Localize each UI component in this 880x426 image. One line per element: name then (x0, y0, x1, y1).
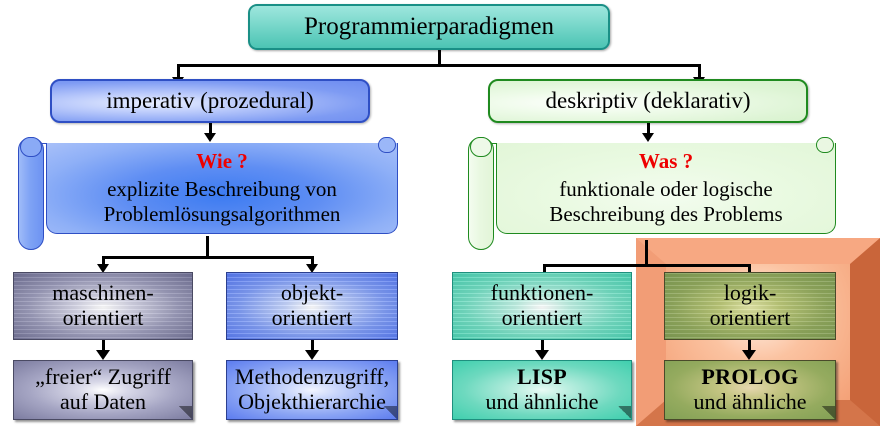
machine-label-line-1: maschinen- (52, 281, 153, 306)
node-function-oriented[interactable]: funktionen- orientiert (452, 272, 632, 340)
node-object-oriented[interactable]: objekt- orientiert (226, 272, 398, 340)
function-label-line-1: funktionen- (491, 281, 594, 306)
scroll-right-curl (378, 137, 396, 153)
arrow-logic-to-detail (742, 350, 756, 360)
scroll-descriptive-description[interactable]: Was ? funktionale oder logische Beschrei… (458, 135, 836, 250)
scroll-imperative-description[interactable]: Wie ? explizite Beschreibung von Problem… (8, 135, 398, 250)
connector-title-bar (177, 64, 701, 67)
scroll-left-roll-cap (20, 137, 42, 157)
node-descriptive-label: deskriptiv (deklarativ) (545, 88, 750, 114)
question-was: Was ? (639, 149, 693, 174)
scroll-imperative-body: Wie ? explizite Beschreibung von Problem… (46, 143, 398, 234)
scroll-right-curl (816, 137, 834, 153)
object-label-line-1: objekt- (281, 281, 343, 306)
node-machine-detail[interactable]: „freier“ Zugriff auf Daten (13, 360, 193, 420)
logic-detail-line-2: und ähnliche (693, 390, 806, 415)
connector-descriptive-split-bar (543, 264, 751, 267)
imperative-desc-line-1: explizite Beschreibung von (107, 177, 337, 202)
descriptive-desc-line-1: funktionale oder logische (559, 177, 772, 202)
imperative-desc-line-2: Problemlösungsalgorithmen (104, 202, 341, 227)
function-detail-line-2: und ähnliche (485, 390, 598, 415)
connector-imperative-split-stem (206, 236, 209, 258)
node-title[interactable]: Programmierparadigmen (248, 4, 610, 50)
node-imperative[interactable]: imperativ (prozedural) (50, 79, 370, 123)
object-detail-line-1: Methodenzugriff, (235, 365, 389, 390)
scroll-left-roll-cap (470, 137, 492, 157)
machine-detail-line-1: „freier“ Zugriff (35, 365, 171, 390)
logic-detail-line-1: PROLOG (701, 365, 798, 390)
node-machine-oriented[interactable]: maschinen- orientiert (13, 272, 193, 340)
node-object-detail[interactable]: Methodenzugriff, Objekthierarchie (226, 360, 398, 420)
arrow-object-to-detail (305, 350, 319, 360)
node-descriptive[interactable]: deskriptiv (deklarativ) (488, 79, 808, 123)
connector-imperative-split-bar (102, 256, 314, 259)
connector-descriptive-split-stem (645, 240, 648, 266)
node-function-detail[interactable]: LISP und ähnliche (452, 360, 632, 420)
diagram-canvas: imperativ (prozedural) deskriptiv (dekla… (0, 0, 880, 426)
page-title: Programmierparadigmen (304, 13, 554, 41)
machine-label-line-2: orientiert (63, 306, 144, 331)
logic-label-line-1: logik- (724, 281, 777, 306)
node-logic-detail[interactable]: PROLOG und ähnliche (664, 360, 836, 420)
arrow-machine-to-detail (96, 350, 110, 360)
node-logic-oriented[interactable]: logik- orientiert (664, 272, 836, 340)
object-label-line-2: orientiert (272, 306, 353, 331)
object-detail-line-2: Objekthierarchie (238, 390, 386, 415)
machine-detail-line-2: auf Daten (60, 390, 146, 415)
function-label-line-2: orientiert (502, 306, 583, 331)
question-wie: Wie ? (196, 149, 248, 174)
node-imperative-label: imperativ (prozedural) (106, 88, 314, 114)
arrow-function-to-detail (535, 350, 549, 360)
function-detail-line-1: LISP (517, 365, 567, 390)
scroll-descriptive-body: Was ? funktionale oder logische Beschrei… (496, 143, 836, 234)
logic-label-line-2: orientiert (710, 306, 791, 331)
descriptive-desc-line-2: Beschreibung des Problems (549, 202, 782, 227)
